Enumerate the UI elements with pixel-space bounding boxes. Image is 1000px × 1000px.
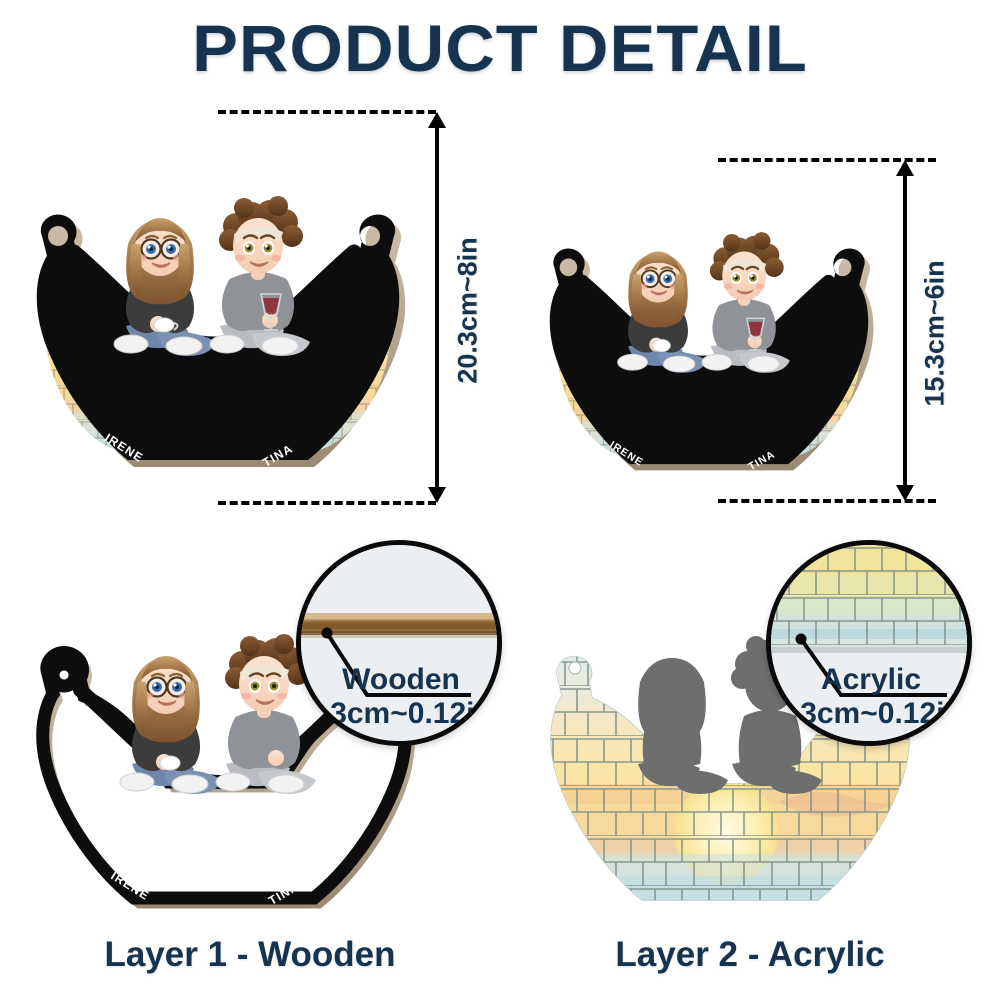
- dimension-label-left: 20.3cm~8in: [453, 237, 484, 383]
- infographic-canvas: PRODUCT DETAIL 20.3cm~8in: [0, 0, 1000, 1000]
- ornament-full-large: IRENE TINA: [8, 148, 428, 478]
- callout-acrylic: Acrylic 0.3cm~0.12in: [766, 540, 972, 746]
- guide-line-top-left: [218, 110, 436, 114]
- callout-wooden-inner: [301, 545, 497, 741]
- character-irene: [618, 252, 708, 373]
- page-title: PRODUCT DETAIL: [0, 14, 1000, 83]
- callout-acrylic-inner: [771, 545, 967, 741]
- dimension-line-left: [435, 118, 439, 496]
- dimension-line-right: [903, 166, 907, 494]
- guide-line-bottom-left: [218, 501, 436, 505]
- caption-layer-1: Layer 1 - Wooden: [0, 935, 500, 975]
- dimension-arrow-down-left: [428, 487, 446, 503]
- ornament-full-small: IRENE TINA: [524, 190, 894, 480]
- caption-layer-2: Layer 2 - Acrylic: [500, 935, 1000, 975]
- callout-wooden: Wooden 0.3cm~0.12in: [296, 540, 502, 746]
- dimension-arrow-up-left: [428, 112, 446, 128]
- dimension-arrow-down-right: [896, 485, 914, 501]
- dimension-label-right: 15.3cm~6in: [920, 260, 951, 406]
- character-irene: [120, 656, 222, 794]
- dimension-arrow-up-right: [896, 160, 914, 176]
- character-irene: [114, 218, 216, 356]
